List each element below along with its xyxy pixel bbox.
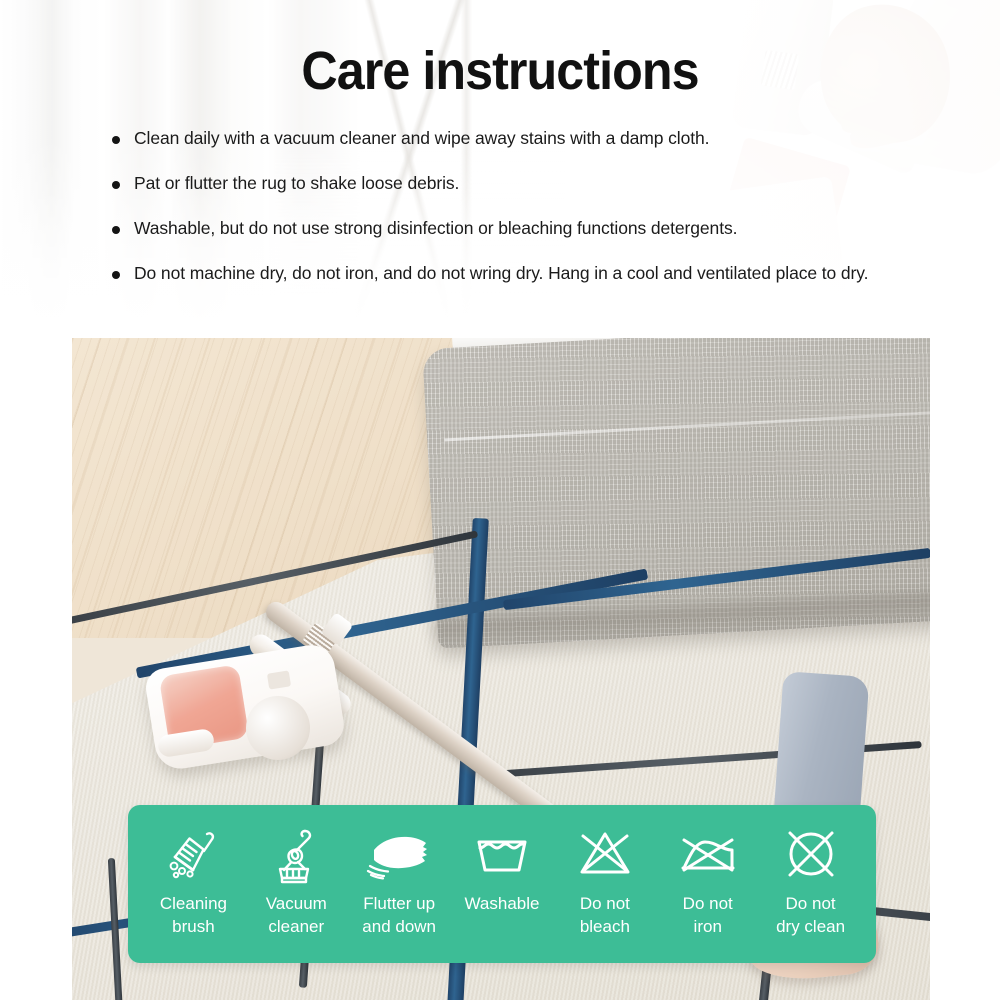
care-symbol-label-line2: iron [694,916,722,937]
list-item-text: Washable, but do not use strong disinfec… [134,216,902,241]
list-item-text: Clean daily with a vacuum cleaner and wi… [134,126,902,151]
care-symbol-label-line1: Washable [465,893,540,914]
vacuum-cleaner-icon [265,819,327,891]
list-item: Clean daily with a vacuum cleaner and wi… [112,126,902,151]
care-symbol-do-not-dry-clean: Do not dry clean [759,819,862,937]
care-symbol-do-not-bleach: Do not bleach [553,819,656,937]
list-item: Washable, but do not use strong disinfec… [112,216,902,241]
care-symbol-label-line1: Do not [786,893,836,914]
care-symbol-do-not-iron: Do not iron [656,819,759,937]
do-not-iron-icon [677,819,739,891]
care-symbol-washable: Washable [451,819,554,916]
care-symbol-vacuum-cleaner: Vacuum cleaner [245,819,348,937]
care-symbol-cleaning-brush: Cleaning brush [142,819,245,937]
washable-tub-icon [471,819,533,891]
bullet-dot-icon [112,271,120,279]
page-title: Care instructions [35,40,965,102]
care-bullet-list: Clean daily with a vacuum cleaner and wi… [112,126,902,286]
care-symbol-flutter: Flutter up and down [348,819,451,937]
care-symbol-label-line2: cleaner [268,916,324,937]
care-symbol-label-line1: Do not [580,893,630,914]
list-item: Pat or flutter the rug to shake loose de… [112,171,902,196]
list-item: Do not machine dry, do not iron, and do … [112,261,902,286]
care-symbol-label-line2: and down [362,916,436,937]
care-symbol-label-line1: Cleaning [160,893,227,914]
bullet-dot-icon [112,136,120,144]
flutter-cloth-icon [362,819,436,891]
care-symbol-label-line2: brush [172,916,215,937]
cleaning-brush-icon [162,819,224,891]
care-instructions-page: Care instructions Clean daily with a vac… [0,0,1000,1000]
care-symbol-label-line2: dry clean [776,916,845,937]
care-symbol-label-line1: Do not [683,893,733,914]
bullet-dot-icon [112,181,120,189]
care-symbol-label-line2: bleach [580,916,630,937]
vacuum-label [267,670,291,689]
care-symbol-label-line1: Vacuum [266,893,327,914]
do-not-dry-clean-icon [780,819,842,891]
list-item-text: Do not machine dry, do not iron, and do … [134,261,902,286]
do-not-bleach-icon [574,819,636,891]
bullet-dot-icon [112,226,120,234]
list-item-text: Pat or flutter the rug to shake loose de… [134,171,902,196]
care-symbol-label-line1: Flutter up [363,893,435,914]
care-symbols-panel: Cleaning brush [128,805,876,963]
